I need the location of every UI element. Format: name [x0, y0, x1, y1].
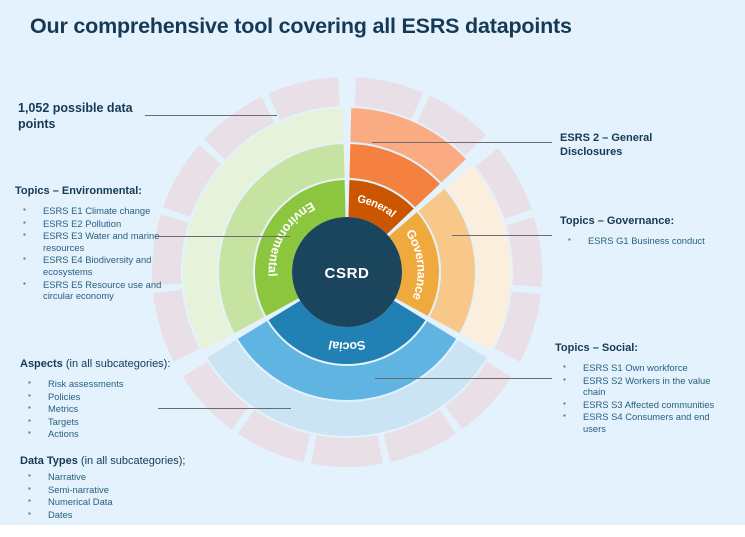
topics-social-callout: Topics – Social: ESRS S1 Own workforceES…: [555, 341, 735, 436]
aspects-heading-bold: Aspects: [20, 358, 63, 370]
aspects-heading-rest: (in all subcategories):: [63, 358, 171, 370]
center-label: CSRD: [325, 265, 370, 282]
ring-label-social: Social: [327, 337, 366, 353]
list-item: ESRS S2 Workers in the value chain: [555, 375, 735, 398]
esrs2-line-2: Disclosures: [560, 145, 730, 159]
slide-canvas: Our comprehensive tool covering all ESRS…: [0, 0, 745, 525]
data-types-heading-bold: Data Types: [20, 455, 78, 467]
leader-governance: [452, 235, 552, 236]
topics-environmental-list: ESRS E1 Climate changeESRS E2 PollutionE…: [15, 205, 175, 302]
list-item: Semi-narrative: [20, 484, 220, 496]
aspects-callout: Aspects (in all subcategories): Risk ass…: [20, 357, 220, 441]
slice-governance-outer-2: [506, 217, 542, 287]
list-item: ESRS E4 Biodiversity and ecosystems: [15, 254, 175, 277]
topics-governance-list: ESRS G1 Business conduct: [560, 235, 740, 247]
data-types-heading: Data Types (in all subcategories);: [20, 454, 220, 468]
list-item: Policies: [20, 391, 220, 403]
aspects-list: Risk assessmentsPoliciesMetricsTargetsAc…: [20, 378, 220, 440]
topics-environmental-callout: Topics – Environmental: ESRS E1 Climate …: [15, 184, 175, 303]
datapoints-line-2: points: [18, 116, 148, 132]
list-item: Narrative: [20, 471, 220, 483]
page-title: Our comprehensive tool covering all ESRS…: [30, 14, 572, 39]
list-item: ESRS G1 Business conduct: [560, 235, 740, 247]
data-types-list: NarrativeSemi-narrativeNumerical DataDat…: [20, 471, 220, 520]
aspects-heading: Aspects (in all subcategories):: [20, 357, 220, 371]
list-item: ESRS S3 Affected communities: [555, 399, 735, 411]
list-item: ESRS E1 Climate change: [15, 205, 175, 217]
list-item: ESRS S1 Own workforce: [555, 362, 735, 374]
leader-datapoints: [145, 115, 277, 116]
topics-social-heading: Topics – Social:: [555, 341, 735, 355]
topics-governance-callout: Topics – Governance: ESRS G1 Business co…: [560, 214, 740, 248]
topics-governance-heading: Topics – Governance:: [560, 214, 740, 228]
leader-esrs2: [372, 142, 552, 143]
list-item: Risk assessments: [20, 378, 220, 390]
list-item: ESRS E3 Water and marine resources: [15, 230, 175, 253]
list-item: Targets: [20, 416, 220, 428]
footer-strip: [0, 525, 745, 537]
slice-social-outer-3: [311, 435, 383, 467]
data-types-heading-rest: (in all subcategories);: [78, 455, 186, 467]
topics-social-list: ESRS S1 Own workforceESRS S2 Workers in …: [555, 362, 735, 435]
list-item: Metrics: [20, 403, 220, 415]
list-item: ESRS S4 Consumers and end users: [555, 411, 735, 434]
datapoints-callout: 1,052 possible data points: [18, 100, 148, 132]
data-types-callout: Data Types (in all subcategories); Narra…: [20, 454, 220, 521]
list-item: ESRS E2 Pollution: [15, 218, 175, 230]
topics-environmental-heading: Topics – Environmental:: [15, 184, 175, 198]
esrs2-line-1: ESRS 2 – General: [560, 131, 730, 145]
list-item: Actions: [20, 428, 220, 440]
datapoints-line-1: 1,052 possible data: [18, 100, 148, 116]
list-item: Dates: [20, 509, 220, 521]
list-item: Numerical Data: [20, 496, 220, 508]
esrs2-callout: ESRS 2 – General Disclosures: [560, 131, 730, 159]
leader-social: [375, 378, 552, 379]
leader-environmental: [155, 236, 290, 237]
list-item: ESRS E5 Resource use and circular econom…: [15, 279, 175, 302]
